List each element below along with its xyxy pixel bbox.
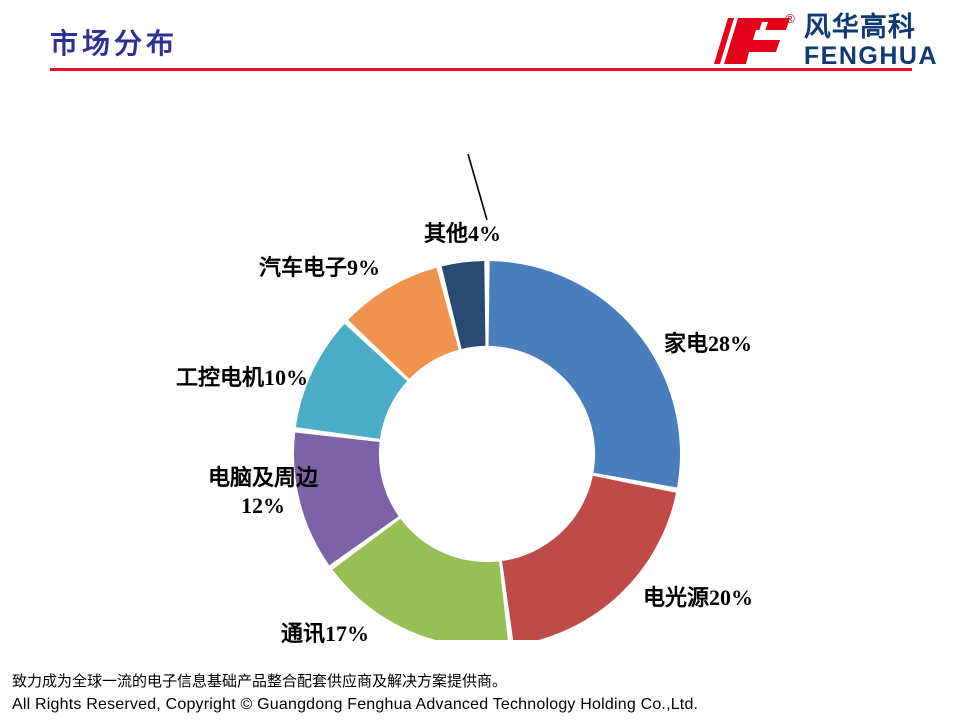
- registered-trademark-icon: ®: [785, 12, 795, 25]
- slide-footer: 致力成为全球一流的电子信息基础产品整合配套供应商及解决方案提供商。 All Ri…: [0, 671, 960, 716]
- slice-label-industrial-motor: 工控电机10%: [176, 364, 308, 392]
- slice-label-communication: 通讯17%: [281, 620, 369, 648]
- slice-label-computer-peripheral: 电脑及周边 12%: [178, 464, 348, 519]
- slice-label-other: 其他4%: [424, 220, 501, 248]
- slide-header: 市场分布 ® 风华高科 FENGHUA: [0, 0, 960, 92]
- logo-name-cn: 风华高科: [804, 14, 938, 41]
- footer-slogan-cn: 致力成为全球一流的电子信息基础产品整合配套供应商及解决方案提供商。: [12, 671, 960, 693]
- donut-chart-svg: [0, 92, 960, 640]
- logo-name-en: FENGHUA: [804, 44, 938, 69]
- logo-wordmark: 风华高科 FENGHUA: [804, 14, 938, 69]
- brand-logo: ® 风华高科 FENGHUA: [698, 8, 938, 74]
- leader-line-other: [468, 154, 487, 220]
- fenghua-fh-mark-icon: ®: [698, 12, 794, 70]
- footer-copyright-en: All Rights Reserved, Copyright © Guangdo…: [12, 693, 960, 716]
- slice-label-computer-peripheral-line2: 12%: [241, 493, 285, 518]
- donut-slice-group: [294, 261, 680, 640]
- donut-slice-家电[interactable]: [489, 261, 680, 487]
- page-title: 市场分布: [50, 22, 178, 62]
- market-distribution-chart: 家电28% 电光源20% 通讯17% 电脑及周边 12% 工控电机10% 汽车电…: [0, 92, 960, 640]
- slice-label-computer-peripheral-line1: 电脑及周边: [208, 465, 318, 490]
- slice-label-light-source: 电光源20%: [643, 584, 753, 612]
- fh-logo-svg: [698, 12, 794, 70]
- donut-slice-电光源[interactable]: [502, 476, 676, 640]
- slice-label-home-appliance: 家电28%: [664, 330, 752, 358]
- slice-label-automotive-electronics: 汽车电子9%: [259, 254, 380, 282]
